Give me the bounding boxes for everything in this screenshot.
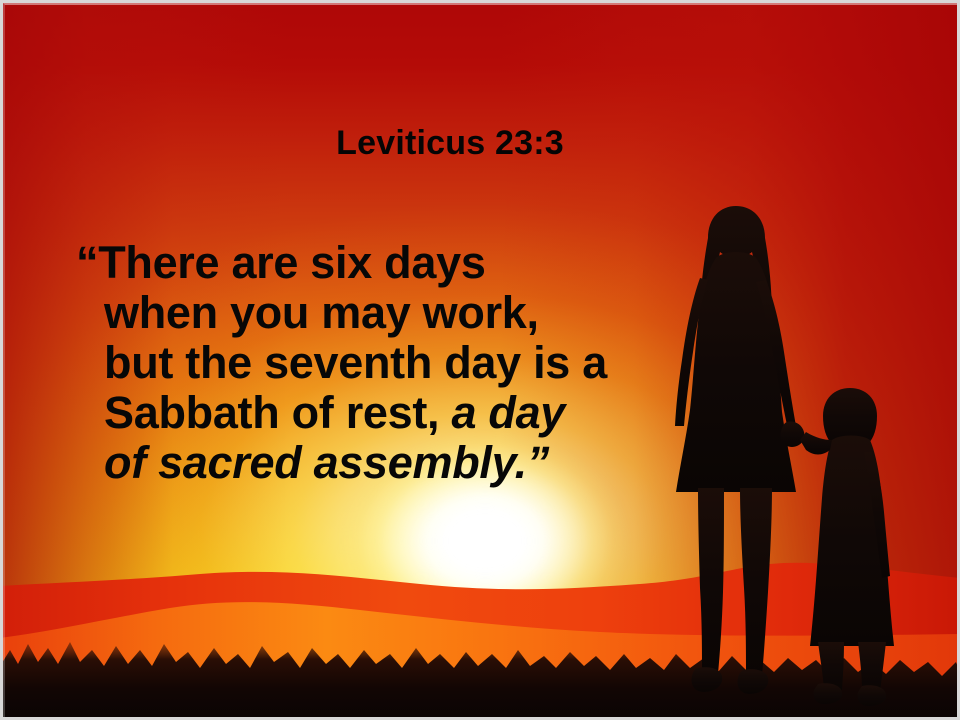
verse-line-3: but the seventh day is a [76, 338, 696, 388]
verse-text: “There are six days when you may work, b… [76, 238, 696, 488]
verse-line-5: of sacred assembly.” [76, 438, 696, 488]
verse-line-4-roman: Sabbath of rest, [104, 387, 451, 438]
verse-line-2: when you may work, [76, 288, 696, 338]
slide-canvas: Leviticus 23:3 “There are six days when … [0, 0, 960, 720]
verse-line-4-italic: a day [451, 387, 565, 438]
verse-line-1: “There are six days [76, 238, 696, 288]
verse-reference: Leviticus 23:3 [0, 124, 900, 163]
child-silhouette [800, 388, 894, 706]
verse-line-4: Sabbath of rest, a day [76, 388, 696, 438]
